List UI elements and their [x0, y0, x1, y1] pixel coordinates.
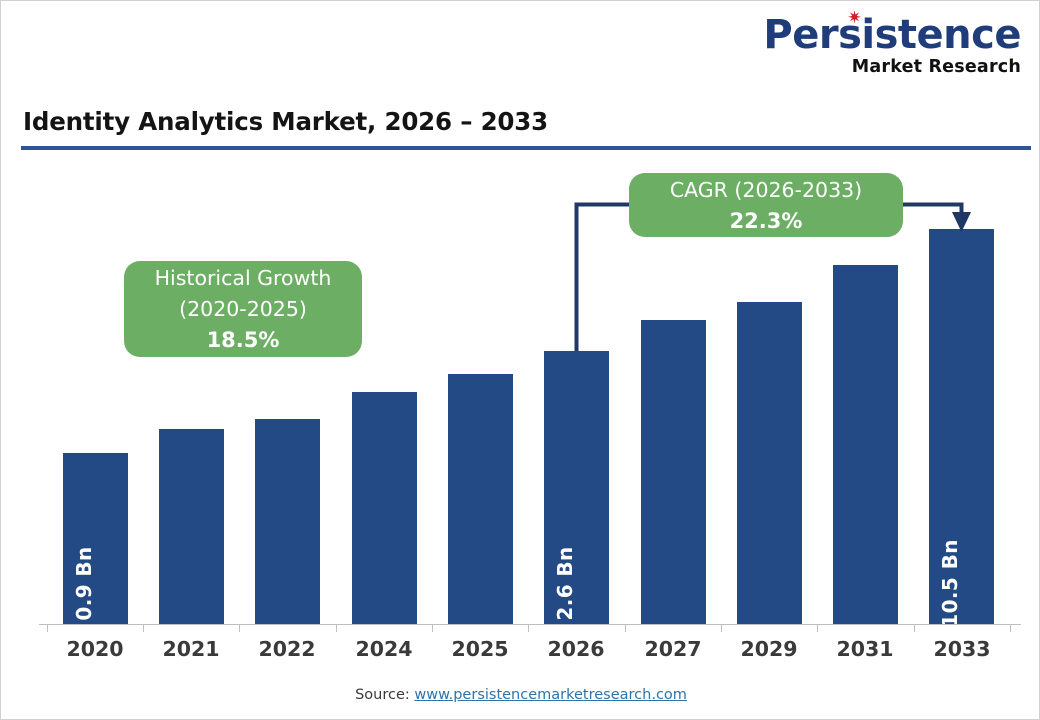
source-prefix: Source: — [355, 687, 414, 703]
x-axis-label-2029: 2029 — [721, 637, 817, 661]
x-axis-label-2022: 2022 — [239, 637, 335, 661]
x-axis-label-2031: 2031 — [817, 637, 913, 661]
x-axis-label-2033: 2033 — [914, 637, 1010, 661]
x-axis-tick — [1010, 624, 1011, 632]
x-axis-label-2025: 2025 — [432, 637, 528, 661]
bar-2022 — [255, 419, 320, 624]
bar-2025 — [448, 374, 513, 624]
bar-2027 — [641, 320, 706, 624]
x-axis-tick — [47, 624, 48, 632]
bar-2033: US$ 10.5 Bn — [929, 229, 994, 624]
x-axis-label-2024: 2024 — [336, 637, 432, 661]
cagr-line1: CAGR (2026-2033) — [670, 175, 862, 206]
bar-2020: US$ 0.9 Bn — [63, 453, 128, 624]
x-axis-tick — [432, 624, 433, 632]
x-axis-label-2026: 2026 — [528, 637, 624, 661]
x-axis-label-2020: 2020 — [47, 637, 143, 661]
x-axis-label-2021: 2021 — [143, 637, 239, 661]
bar-2024 — [352, 392, 417, 624]
bar-2021 — [159, 429, 224, 624]
source-line: Source: www.persistencemarketresearch.co… — [1, 687, 1040, 703]
source-url-link[interactable]: www.persistencemarketresearch.com — [414, 687, 687, 703]
cagr-percent: 22.3% — [730, 206, 803, 236]
x-axis-tick — [625, 624, 626, 632]
x-axis-tick — [336, 624, 337, 632]
bar-2031 — [833, 265, 898, 624]
x-axis-label-2027: 2027 — [625, 637, 721, 661]
x-axis-tick — [239, 624, 240, 632]
historical-growth-line1: Historical Growth — [155, 263, 332, 294]
cagr-callout: CAGR (2026-2033) 22.3% — [629, 173, 903, 237]
bar-2029 — [737, 302, 802, 624]
x-axis-tick — [914, 624, 915, 632]
chart-plot-area: US$ 0.9 Bn US$ 2.6 Bn US$ 10.5 Bn 2020 2… — [1, 1, 1040, 720]
x-axis-tick — [143, 624, 144, 632]
x-axis-tick — [817, 624, 818, 632]
bar-2026: US$ 2.6 Bn — [544, 351, 609, 624]
historical-growth-callout: Historical Growth (2020-2025) 18.5% — [124, 261, 362, 357]
chart-page: Persistence ✷ Market Research Identity A… — [0, 0, 1040, 720]
x-axis-tick — [528, 624, 529, 632]
x-axis-line — [39, 624, 1021, 625]
historical-growth-line2: (2020-2025) — [179, 294, 307, 325]
historical-growth-percent: 18.5% — [207, 325, 280, 355]
x-axis-tick — [721, 624, 722, 632]
